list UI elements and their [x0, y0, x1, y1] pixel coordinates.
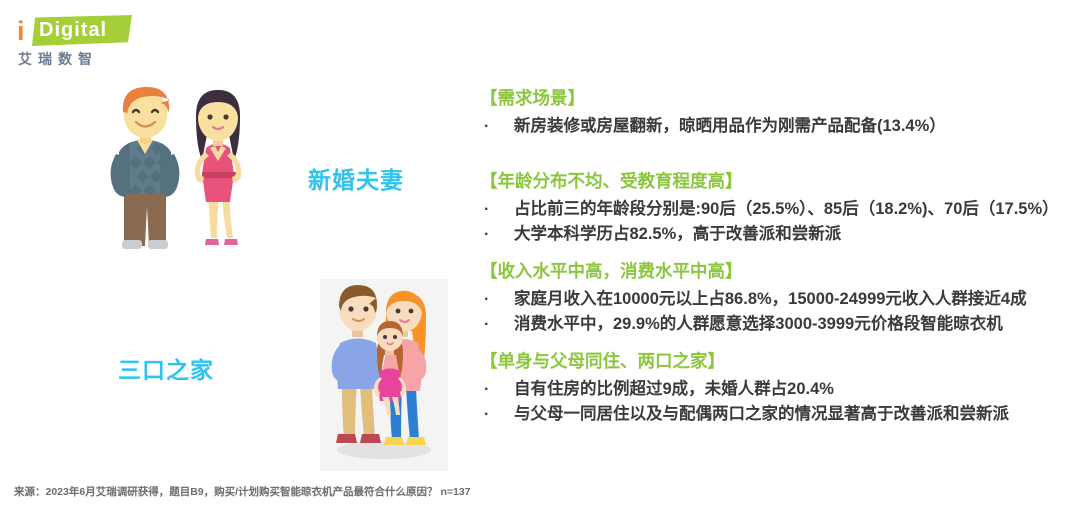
insight-block-age-education: 【年龄分布不均、受教育程度高】 · 占比前三的年龄段分别是:90后（25.5%）… — [480, 169, 1076, 247]
bullet-marker-icon: · — [480, 377, 508, 402]
bullet-text: 家庭月收入在10000元以上占86.8%，15000-24999元收入人群接近4… — [508, 287, 1076, 312]
bullet-marker-icon: · — [480, 197, 508, 222]
couple-illustration — [96, 82, 276, 258]
bullet-marker-icon: · — [480, 222, 508, 247]
bullet-item: · 大学本科学历占82.5%，高于改善派和尝新派 — [480, 222, 1076, 247]
insights-content: 【需求场景】 · 新房装修或房屋翻新，晾晒用品作为刚需产品配备(13.4%） 【… — [480, 86, 1076, 440]
bullet-marker-icon: · — [480, 114, 508, 139]
bullet-marker-icon: · — [480, 287, 508, 312]
block-title: 【单身与父母同住、两口之家】 — [480, 349, 1076, 373]
logo-letter-i: i — [17, 16, 25, 46]
block-title: 【年龄分布不均、受教育程度高】 — [480, 169, 1076, 193]
bullet-item: · 消费水平中，29.9%的人群愿意选择3000-3999元价格段智能晾衣机 — [480, 312, 1076, 337]
bullet-text: 占比前三的年龄段分别是:90后（25.5%）、85后（18.2%)、70后（17… — [508, 197, 1076, 222]
insight-block-income-consumption: 【收入水平中高，消费水平中高】 · 家庭月收入在10000元以上占86.8%，1… — [480, 259, 1076, 337]
family-of-three-illustration — [320, 279, 448, 471]
bullet-text: 与父母一同居住以及与配偶两口之家的情况显著高于改善派和尝新派 — [508, 402, 1076, 427]
bullet-item: · 家庭月收入在10000元以上占86.8%，15000-24999元收入人群接… — [480, 287, 1076, 312]
block-title: 【需求场景】 — [480, 86, 1076, 110]
bullet-text: 大学本科学历占82.5%，高于改善派和尝新派 — [508, 222, 1076, 247]
man-figure — [111, 87, 180, 249]
source-note: 来源：2023年6月艾瑞调研获得，题目B9，购买/计划购买智能晾衣机产品最符合什… — [14, 484, 471, 499]
insight-block-demand-scenario: 【需求场景】 · 新房装修或房屋翻新，晾晒用品作为刚需产品配备(13.4%） — [480, 86, 1076, 139]
bullet-text: 消费水平中，29.9%的人群愿意选择3000-3999元价格段智能晾衣机 — [508, 312, 1076, 337]
bullet-item: · 与父母一同居住以及与配偶两口之家的情况显著高于改善派和尝新派 — [480, 402, 1076, 427]
persona-label-family-of-three: 三口之家 — [118, 351, 214, 385]
brand-logo: i Digital 艾瑞数智 — [14, 14, 144, 72]
bullet-marker-icon: · — [480, 402, 508, 427]
logo-chinese-name: 艾瑞数智 — [18, 50, 98, 68]
insight-block-household: 【单身与父母同住、两口之家】 · 自有住房的比例超过9成，未婚人群占20.4% … — [480, 349, 1076, 427]
persona-label-newlyweds: 新婚夫妻 — [308, 161, 404, 195]
bullet-text: 自有住房的比例超过9成，未婚人群占20.4% — [508, 377, 1076, 402]
woman-figure — [195, 90, 242, 245]
logo-word-digital: Digital — [39, 18, 107, 42]
block-title: 【收入水平中高，消费水平中高】 — [480, 259, 1076, 283]
bullet-item: · 新房装修或房屋翻新，晾晒用品作为刚需产品配备(13.4%） — [480, 114, 1076, 139]
logo-wordmark: i Digital — [14, 14, 144, 48]
bullet-item: · 占比前三的年龄段分别是:90后（25.5%）、85后（18.2%)、70后（… — [480, 197, 1076, 222]
bullet-item: · 自有住房的比例超过9成，未婚人群占20.4% — [480, 377, 1076, 402]
bullet-text: 新房装修或房屋翻新，晾晒用品作为刚需产品配备(13.4%） — [508, 114, 1076, 139]
bullet-marker-icon: · — [480, 312, 508, 337]
